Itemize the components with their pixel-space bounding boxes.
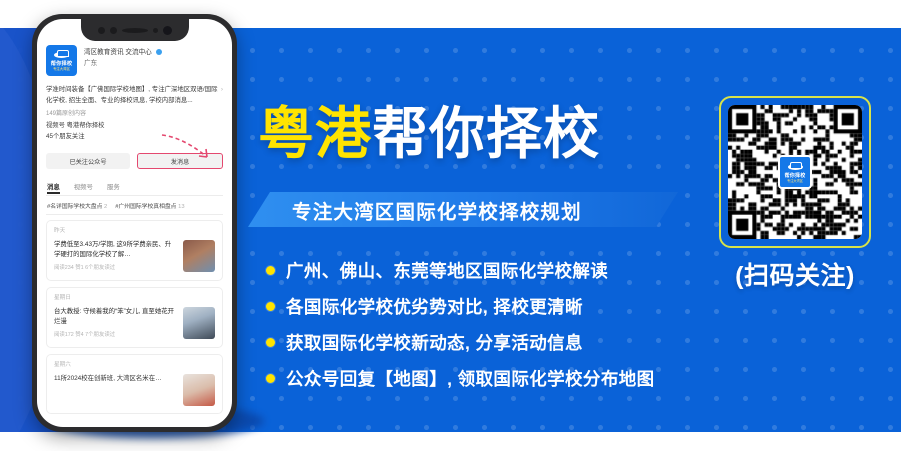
qr-logo-bottom: 专注大湾区 xyxy=(787,179,803,184)
feature-text: 广州、佛山、东莞等地区国际化学校解读 xyxy=(286,258,608,283)
list-item[interactable]: 星期日 台大教授: 守候着我的“笨”女儿, 直至她花开烂漫 阅读172 赞4 7… xyxy=(46,287,223,348)
promo-banner-image: 帮你择校 专注大湾区 湾区教育资讯 交流中心 广东 › 学准时间装备【广佛国际学… xyxy=(0,0,901,451)
article-stats: 阅读234 赞1 6个朋友读过 xyxy=(54,264,177,273)
account-header: 帮你择校 专注大湾区 湾区教育资讯 交流中心 广东 xyxy=(46,45,223,76)
article-date: 昨天 xyxy=(54,227,215,236)
article-thumbnail xyxy=(183,307,215,339)
headline-highlight: 粤港 xyxy=(258,102,372,165)
bullet-dot-icon xyxy=(266,338,275,347)
article-date: 星期日 xyxy=(54,294,215,303)
graduation-cap-icon xyxy=(54,50,69,61)
list-item[interactable]: 昨天 学费低至3.43万/学期, 这9所学费亲民、升学硬打的国际化学校了解… 阅… xyxy=(46,220,223,281)
follow-button[interactable]: 已关注公众号 xyxy=(46,153,130,169)
hashtag-row: #名详国际学校大盘点 2 #广州国际学校真相盘点 13 xyxy=(46,196,223,214)
qr-code[interactable]: 帮你择校 专注大湾区 xyxy=(728,105,862,239)
verified-badge-icon xyxy=(156,49,162,55)
article-stats: 阅读172 赞4 7个朋友读过 xyxy=(54,331,177,340)
hashtag-divider xyxy=(46,214,223,215)
graduation-cap-icon xyxy=(788,162,803,173)
feature-text: 各国际化学校优劣势对比, 择校更清晰 xyxy=(286,294,583,319)
chevron-right-icon: › xyxy=(221,85,223,96)
account-name-row: 湾区教育资讯 交流中心 xyxy=(84,48,162,58)
tab-services[interactable]: 服务 xyxy=(107,182,120,194)
channel-line: 视频号 粤港帮你择校 xyxy=(46,120,223,131)
avatar-logo-bottom: 专注大湾区 xyxy=(53,67,70,72)
original-content-count: 149篇原创内容 xyxy=(46,109,223,120)
article-title: 台大教授: 守候着我的“笨”女儿, 直至她花开烂漫 xyxy=(54,307,177,327)
article-feed: 昨天 学费低至3.43万/学期, 这9所学费亲民、升学硬打的国际化学校了解… 阅… xyxy=(46,220,223,414)
qr-caption: (扫码关注) xyxy=(719,256,871,292)
list-item: 获取国际化学校新动态, 分享活动信息 xyxy=(266,324,706,360)
page-title: 粤港帮你择校 xyxy=(258,103,600,165)
list-item: 广州、佛山、东莞等地区国际化学校解读 xyxy=(266,252,706,288)
list-item[interactable]: 星期六 11所2024校在创新班, 大湾区名米在… xyxy=(46,354,223,414)
hashtag-2[interactable]: #广州国际学校真相盘点 13 xyxy=(115,201,184,210)
article-thumbnail xyxy=(183,240,215,272)
article-thumbnail xyxy=(183,374,215,406)
dashed-arrow-icon xyxy=(159,131,219,165)
bullet-dot-icon xyxy=(266,374,275,383)
bullet-dot-icon xyxy=(266,266,275,275)
article-date: 星期六 xyxy=(54,361,215,370)
bullet-dot-icon xyxy=(266,302,275,311)
hashtag-1[interactable]: #名详国际学校大盘点 2 xyxy=(47,201,107,210)
tab-bar: 消息 视频号 服务 xyxy=(46,182,223,194)
account-description: › 学准时间装备【广佛国际学校地图】, 专注广深地区双语/国际化学校, 招生全面… xyxy=(46,85,223,106)
feature-text: 获取国际化学校新动态, 分享活动信息 xyxy=(286,330,583,355)
article-title: 11所2024校在创新班, 大湾区名米在… xyxy=(54,374,177,384)
headline-rest: 帮你择校 xyxy=(372,102,600,165)
phone-screen: 帮你择校 专注大湾区 湾区教育资讯 交流中心 广东 › 学准时间装备【广佛国际学… xyxy=(37,19,232,427)
tab-messages[interactable]: 消息 xyxy=(47,182,60,194)
feature-text: 公众号回复【地图】, 领取国际化学校分布地图 xyxy=(286,366,655,391)
phone-notch xyxy=(81,19,189,41)
article-title: 学费低至3.43万/学期, 这9所学费亲民、升学硬打的国际化学校了解… xyxy=(54,240,177,260)
tab-channel[interactable]: 视频号 xyxy=(74,182,93,194)
subtitle-bar: 专注大湾区国际化学校择校规划 xyxy=(248,192,678,227)
list-item: 公众号回复【地图】, 领取国际化学校分布地图 xyxy=(266,360,706,396)
qr-center-logo: 帮你择校 专注大湾区 xyxy=(778,155,812,189)
qr-code-frame: 帮你择校 专注大湾区 xyxy=(719,96,871,248)
account-name: 湾区教育资讯 交流中心 xyxy=(84,49,152,56)
account-avatar: 帮你择校 专注大湾区 xyxy=(46,45,77,76)
list-item: 各国际化学校优劣势对比, 择校更清晰 xyxy=(266,288,706,324)
feature-list: 广州、佛山、东莞等地区国际化学校解读 各国际化学校优劣势对比, 择校更清晰 获取… xyxy=(266,252,706,396)
phone-mockup: 帮你择校 专注大湾区 湾区教育资讯 交流中心 广东 › 学准时间装备【广佛国际学… xyxy=(32,14,237,432)
account-region: 广东 xyxy=(84,58,162,69)
subtitle-text: 专注大湾区国际化学校择校规划 xyxy=(292,195,582,224)
